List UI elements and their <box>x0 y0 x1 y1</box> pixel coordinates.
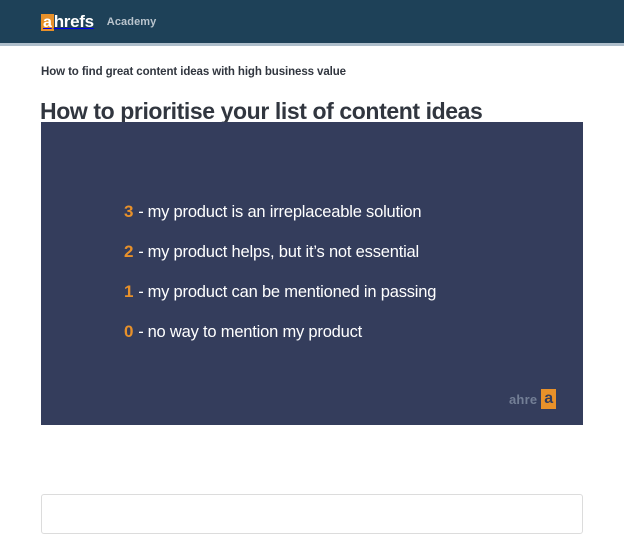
score-number: 1 <box>124 282 133 302</box>
dash-separator: - <box>138 323 143 342</box>
top-navigation-bar: ahrefs Academy <box>0 0 624 43</box>
score-number: 2 <box>124 242 133 262</box>
dash-separator: - <box>138 203 143 222</box>
breadcrumb-course-title: How to find great content ideas with hig… <box>41 66 346 78</box>
academy-label[interactable]: Academy <box>107 16 157 28</box>
topbar-underline <box>0 43 624 46</box>
dash-separator: - <box>138 283 143 302</box>
watermark-text: ahre <box>509 392 537 407</box>
dash-separator: - <box>138 243 143 262</box>
bottom-content-panel[interactable] <box>41 494 583 534</box>
score-description: my product helps, but it’s not essential <box>148 243 419 262</box>
ahrefs-logo-text: hrefs <box>54 12 94 32</box>
list-item: 3 - my product is an irreplaceable solut… <box>124 202 436 222</box>
score-description: no way to mention my product <box>148 323 363 342</box>
ahrefs-logo[interactable]: ahrefs <box>41 12 94 32</box>
ahrefs-logo-accent-letter: a <box>41 14 54 31</box>
slide-scoring-list: 3 - my product is an irreplaceable solut… <box>124 202 436 342</box>
list-item: 2 - my product helps, but it’s not essen… <box>124 242 436 262</box>
ahrefs-watermark-logo: ahre a <box>509 389 569 409</box>
score-description: my product can be mentioned in passing <box>148 283 437 302</box>
list-item: 1 - my product can be mentioned in passi… <box>124 282 436 302</box>
watermark-accent-letter: a <box>541 389 556 409</box>
score-number: 3 <box>124 202 133 222</box>
score-number: 0 <box>124 322 133 342</box>
score-description: my product is an irreplaceable solution <box>148 203 422 222</box>
lesson-slide[interactable]: 3 - my product is an irreplaceable solut… <box>41 122 583 425</box>
list-item: 0 - no way to mention my product <box>124 322 436 342</box>
